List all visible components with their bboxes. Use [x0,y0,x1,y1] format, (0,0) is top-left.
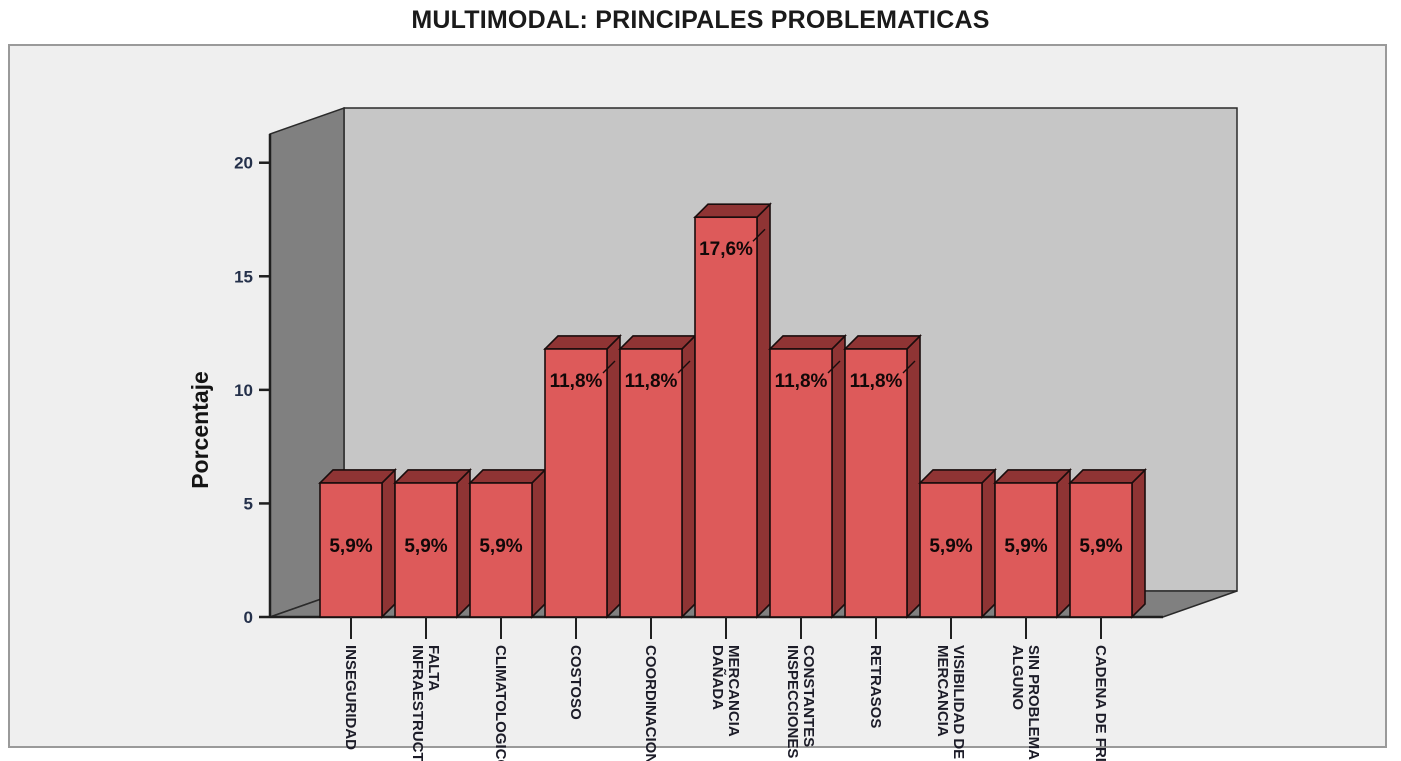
bar-value-label: 5,9% [929,536,972,557]
category-label-line: MERCANCIA [725,645,742,737]
category-label-6: MERCANCIADAÑADA [709,645,742,737]
bar-value-label: 5,9% [1004,536,1047,557]
y-tick-label: 20 [234,154,253,173]
category-label-line: CONSTANTES [800,645,817,747]
y-tick-label: 10 [234,381,253,400]
category-label-1: INSEGURIDAD [342,645,359,750]
bar-side-face [382,470,395,617]
bar-value-label: 5,9% [329,536,372,557]
bar-value-label: 11,8% [625,371,678,392]
bar-top-face [695,204,770,217]
category-label-line: COSTOSO [567,645,584,720]
category-label-line: INSPECCIONES [784,645,801,758]
bar-top-face [1070,470,1145,483]
bar-side-face [457,470,470,617]
category-label-line: INFRAESTRUCTURA [409,645,426,761]
bar-side-face [982,470,995,617]
category-label-8: RETRASOS [867,645,884,728]
category-label-line: COORDINACION [642,645,659,761]
bar-top-face [470,470,545,483]
bar-side-face [1057,470,1070,617]
bar-top-face [995,470,1070,483]
category-label-line: CLIMATOLOGICOS [492,645,509,761]
bar-side-face [832,336,845,617]
bar-side-face [532,470,545,617]
category-label-5: COORDINACION [642,645,659,761]
category-label-2: FALTAINFRAESTRUCTURA [409,645,442,761]
category-label-line: RETRASOS [867,645,884,728]
chart-container: MULTIMODAL: PRINCIPALES PROBLEMATICAS 05… [0,0,1401,761]
category-label-line: MERCANCIA [934,645,951,737]
bar-value-label: 17,6% [699,239,753,260]
bar-top-face [395,470,470,483]
category-label-11: CADENA DE FRIO [1092,645,1109,761]
category-label-4: COSTOSO [567,645,584,720]
category-label-3: CLIMATOLOGICOS [492,645,509,761]
category-label-7: CONSTANTESINSPECCIONES [784,645,817,758]
category-label-10: SIN PROBLEMAALGUNO [1009,645,1042,760]
bar-value-label: 11,8% [850,371,903,392]
bar-side-face [607,336,620,617]
y-tick-label: 15 [234,267,253,286]
bar-front-face [695,217,757,617]
bar-value-label: 11,8% [550,371,603,392]
category-label-line: INSEGURIDAD [342,645,359,750]
category-label-line: DAÑADA [709,645,727,710]
bar-value-label: 5,9% [479,536,522,557]
bar-chart-plot: 05101520 5,9%5,9%5,9%11,8%11,8%17,6%11,8… [0,0,1401,761]
bar-top-face [620,336,695,349]
bar-value-label: 5,9% [1079,536,1122,557]
bar-side-face [682,336,695,617]
y-axis-title: Porcentaje [187,371,213,489]
category-label-line: FALTA [425,645,442,691]
category-label-line: CADENA DE FRIO [1092,645,1109,761]
bar-top-face [770,336,845,349]
y-tick-label: 5 [244,494,253,513]
bar-value-label: 11,8% [775,371,828,392]
bar-top-face [320,470,395,483]
category-labels-layer: INSEGURIDADFALTAINFRAESTRUCTURACLIMATOLO… [342,617,1109,761]
category-label-9: VISIBILIDAD DEMERCANCIA [934,645,967,759]
bar-top-face [545,336,620,349]
bar-value-label: 5,9% [404,536,447,557]
category-label-line: SIN PROBLEMA [1025,645,1042,760]
y-axis-title-layer: Porcentaje [187,371,213,489]
bar-side-face [1132,470,1145,617]
bar-side-face [907,336,920,617]
y-tick-label: 0 [244,608,253,627]
bar-6 [695,204,770,617]
category-label-line: ALGUNO [1009,645,1026,710]
bar-side-face [757,204,770,617]
bar-top-face [845,336,920,349]
bar-top-face [920,470,995,483]
category-label-line: VISIBILIDAD DE [950,645,967,759]
